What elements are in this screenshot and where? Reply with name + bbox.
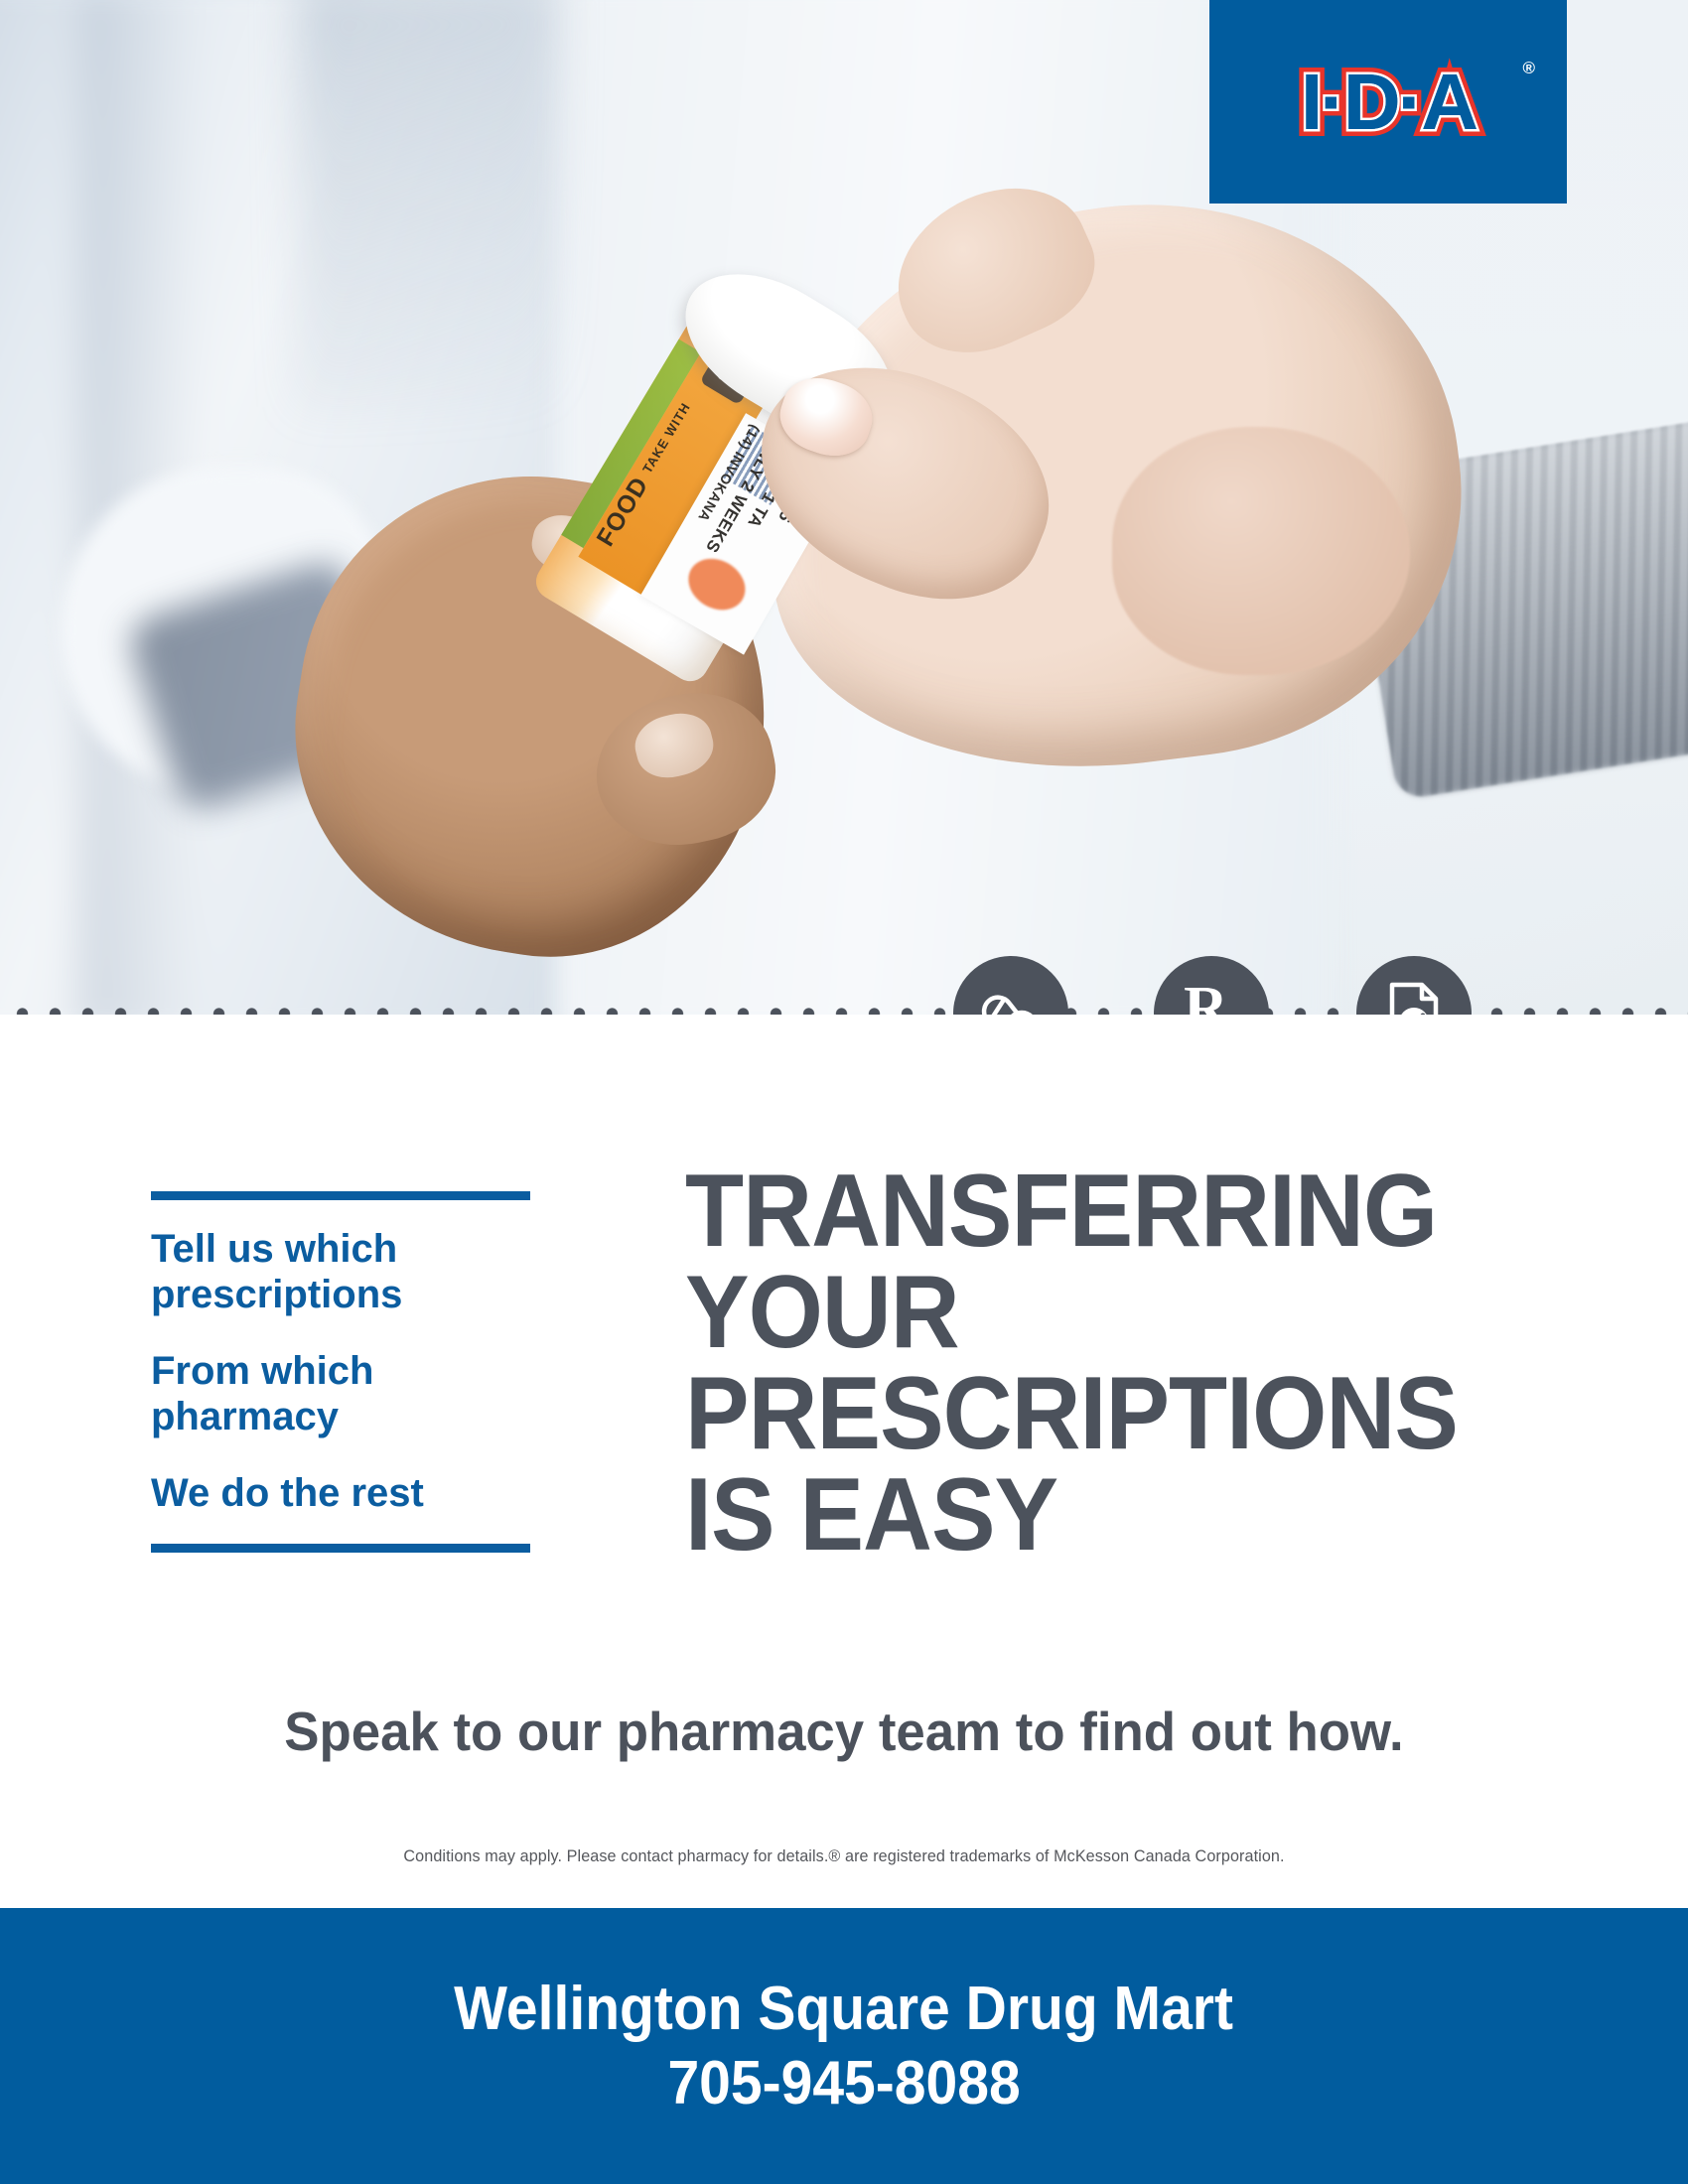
step-item-1: Tell us which prescriptions [151, 1226, 530, 1318]
subheadline: Speak to our pharmacy team to find out h… [34, 1700, 1654, 1763]
store-phone[interactable]: 705-945-8088 [667, 2048, 1020, 2118]
store-footer: Wellington Square Drug Mart 705-945-8088 [0, 1908, 1688, 2184]
ida-logo: I·D·A I·D·A I·D·A ® [1209, 0, 1567, 204]
registered-trademark-icon: ® [1522, 59, 1535, 78]
steps-rule-bottom [151, 1544, 530, 1553]
headline-line-2: YOUR [685, 1263, 1544, 1364]
page-title: TRANSFERRING YOUR PRESCRIPTIONS IS EASY [685, 1161, 1544, 1567]
step-item-3: We do the rest [151, 1470, 530, 1516]
ida-logo-fill: I·D·A [1245, 51, 1531, 154]
step-item-2: From which pharmacy [151, 1348, 530, 1440]
steps-rule-top [151, 1191, 530, 1200]
headline-line-3: PRESCRIPTIONS [685, 1364, 1544, 1465]
headline-line-1: TRANSFERRING [685, 1161, 1544, 1263]
content-area: Tell us which prescriptions From which p… [0, 1015, 1688, 1908]
fine-print: Conditions may apply. Please contact pha… [43, 1846, 1646, 1866]
customer-knuckles [1112, 427, 1410, 675]
steps-list: Tell us which prescriptions From which p… [151, 1191, 530, 1553]
headline-line-4: IS EASY [685, 1465, 1544, 1567]
ida-logo-mark: I·D·A I·D·A I·D·A ® [1245, 51, 1531, 154]
lab-coat-collar-shadow [298, 0, 556, 407]
store-name: Wellington Square Drug Mart [455, 1974, 1234, 2044]
